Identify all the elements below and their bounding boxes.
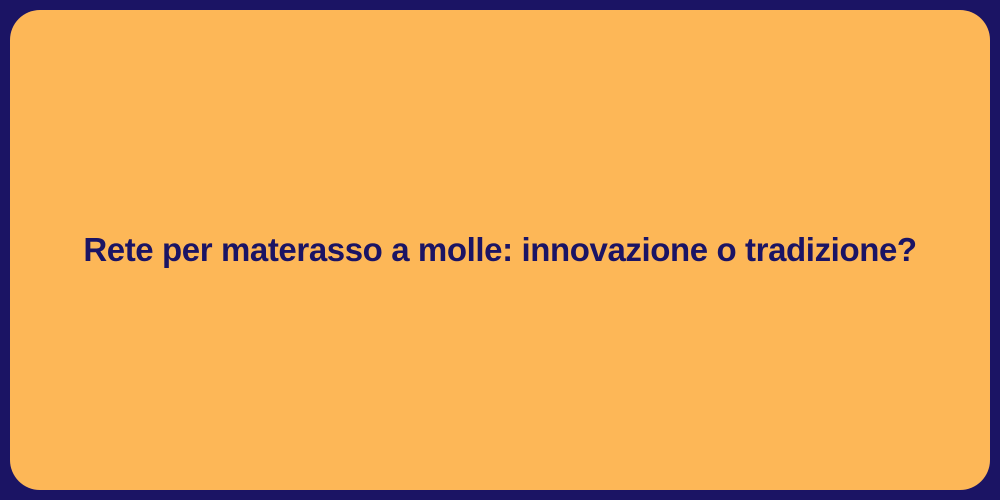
banner-frame: Rete per materasso a molle: innovazione … <box>0 0 1000 500</box>
banner-card: Rete per materasso a molle: innovazione … <box>10 10 990 490</box>
page-title: Rete per materasso a molle: innovazione … <box>23 229 976 270</box>
